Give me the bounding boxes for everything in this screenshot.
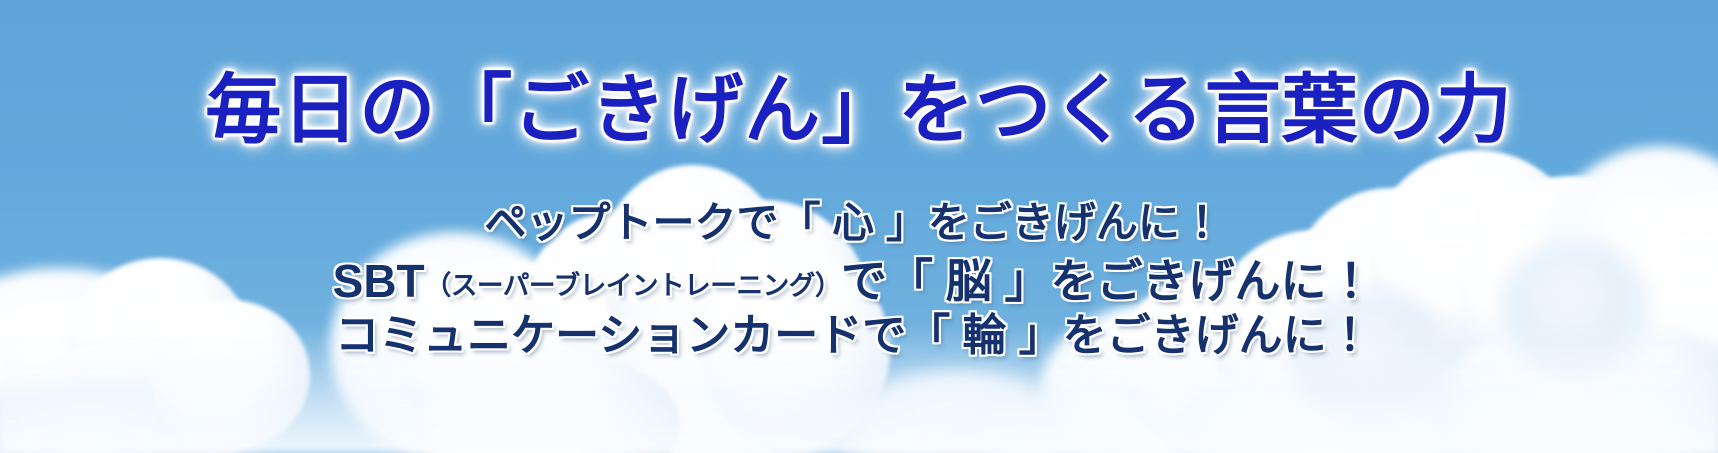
- subtitle-line-3: コミュニケーションカードで「 輪 」をごきげんに ！: [0, 311, 1718, 361]
- banner-text-layer: 毎日の「ごきげん」をつくる言葉の力 ペップトークで「 心 」をごきげんに ！ S…: [0, 0, 1718, 453]
- subtitle-line-1: ペップトークで「 心 」をごきげんに ！: [0, 199, 1718, 247]
- subtitle-line-2: SBT（スーパーブレイントレーニング）で「 脳 」をごきげんに ！: [0, 255, 1718, 311]
- page-title: 毎日の「ごきげん」をつくる言葉の力: [0, 69, 1718, 153]
- hero-banner: 毎日の「ごきげん」をつくる言葉の力 ペップトークで「 心 」をごきげんに ！ S…: [0, 0, 1718, 453]
- subtitle-line-2-ruby: （スーパーブレイントレーニング）: [425, 270, 841, 300]
- subtitle-line-2-suffix: で「 脳 」をごきげんに ！: [841, 255, 1385, 307]
- subtitle-line-2-prefix: SBT: [333, 255, 425, 307]
